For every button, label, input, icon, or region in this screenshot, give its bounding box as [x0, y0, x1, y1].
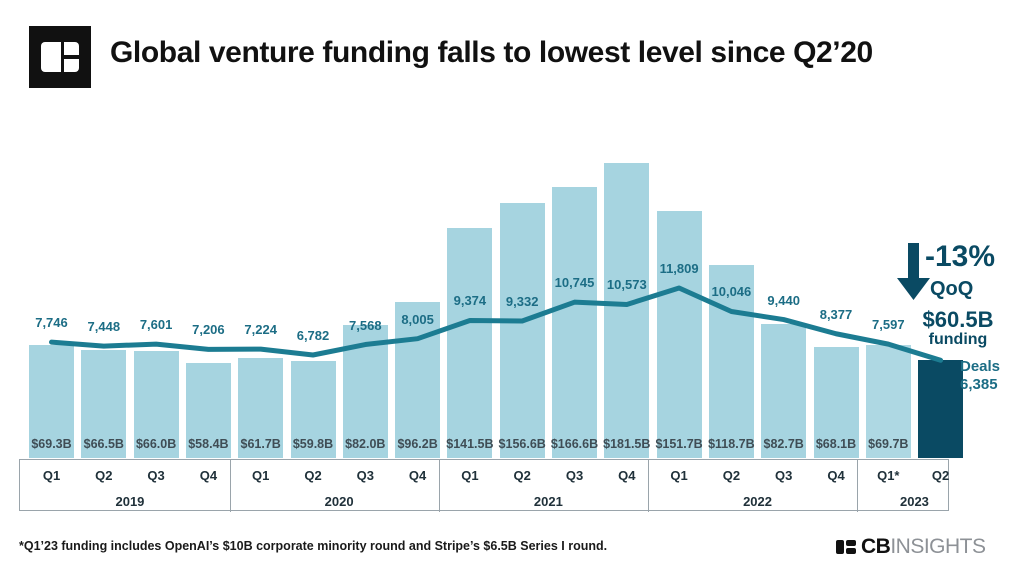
footnote: *Q1’23 funding includes OpenAI’s $10B co… — [19, 539, 607, 553]
axis-quarter-label: Q3 — [128, 468, 185, 483]
funding-bar-label: $96.2B — [389, 437, 446, 451]
axis-year-label: 2020 — [238, 494, 440, 509]
funding-bar-label: $58.4B — [180, 437, 237, 451]
axis-quarter-label: Q1 — [441, 468, 498, 483]
axis-year-label: 2023 — [866, 494, 963, 509]
deals-point-label: 9,440 — [750, 293, 818, 308]
funding-bar-label: $61.7B — [232, 437, 289, 451]
funding-bar-label: $181.5B — [598, 437, 655, 451]
qoq-change-period: QoQ — [930, 278, 973, 301]
deals-point-label: 8,005 — [384, 312, 452, 327]
deals-point-label: 9,332 — [488, 294, 556, 309]
funding-bar-label: $69.7B — [860, 437, 917, 451]
axis-quarter-label: Q1* — [860, 468, 917, 483]
cbinsights-square-logo-icon — [29, 26, 91, 88]
axis-quarter-label: Q2 — [285, 468, 342, 483]
funding-bar-label: $66.0B — [128, 437, 185, 451]
axis-quarter-label: Q2 — [494, 468, 551, 483]
footer-logo: CB INSIGHTS — [836, 536, 986, 558]
axis-quarter-label: Q4 — [389, 468, 446, 483]
funding-bar[interactable] — [447, 228, 492, 458]
deals-callout-label: Deals — [960, 358, 1000, 375]
funding-bar-label: $141.5B — [441, 437, 498, 451]
axis-quarter-label: Q4 — [808, 468, 865, 483]
funding-bar-label: $166.6B — [546, 437, 603, 451]
funding-bar-label: $156.6B — [494, 437, 551, 451]
funding-bar-label: $151.7B — [651, 437, 708, 451]
deals-point-label: 11,809 — [645, 261, 713, 276]
funding-bar-label: $118.7B — [703, 437, 760, 451]
funding-bar-label: $68.1B — [808, 437, 865, 451]
axis-quarter-label: Q3 — [337, 468, 394, 483]
funding-bar-label: $82.7B — [755, 437, 812, 451]
funding-bar[interactable] — [552, 187, 597, 458]
axis-year-label: 2021 — [447, 494, 649, 509]
funding-bar-label: $69.3B — [23, 437, 80, 451]
axis-year-label: 2019 — [29, 494, 231, 509]
axis-quarter-label: Q3 — [755, 468, 812, 483]
axis-quarter-label: Q1 — [23, 468, 80, 483]
axis-quarter-label: Q1 — [651, 468, 708, 483]
axis-quarter-label: Q4 — [180, 468, 237, 483]
qoq-change-value: -13% — [925, 240, 995, 274]
axis-quarter-label: Q3 — [546, 468, 603, 483]
funding-bar[interactable] — [604, 163, 649, 458]
funding-bar-label: $82.0B — [337, 437, 394, 451]
axis-quarter-label: Q1 — [232, 468, 289, 483]
deals-callout-value: 6,385 — [960, 376, 998, 393]
funding-bar[interactable] — [657, 211, 702, 458]
cbinsights-mark-icon — [836, 540, 856, 554]
funding-bar[interactable] — [500, 203, 545, 458]
funding-callout-label: funding — [908, 331, 1008, 349]
axis-quarter-label: Q2 — [912, 468, 969, 483]
deals-point-label: 10,573 — [593, 277, 661, 292]
footer-logo-insights: INSIGHTS — [890, 535, 985, 559]
funding-bar[interactable] — [918, 360, 963, 458]
axis-year-label: 2022 — [657, 494, 859, 509]
axis-quarter-label: Q2 — [703, 468, 760, 483]
axis-quarter-label: Q4 — [598, 468, 655, 483]
header: Global venture funding falls to lowest l… — [0, 0, 1024, 108]
funding-bar-label: $59.8B — [285, 437, 342, 451]
axis-quarter-label: Q2 — [75, 468, 132, 483]
funding-bar-label: $66.5B — [75, 437, 132, 451]
funding-callout-value: $60.5B — [908, 307, 1008, 333]
footer-logo-cb: CB — [861, 535, 890, 559]
page-title: Global venture funding falls to lowest l… — [110, 36, 873, 70]
